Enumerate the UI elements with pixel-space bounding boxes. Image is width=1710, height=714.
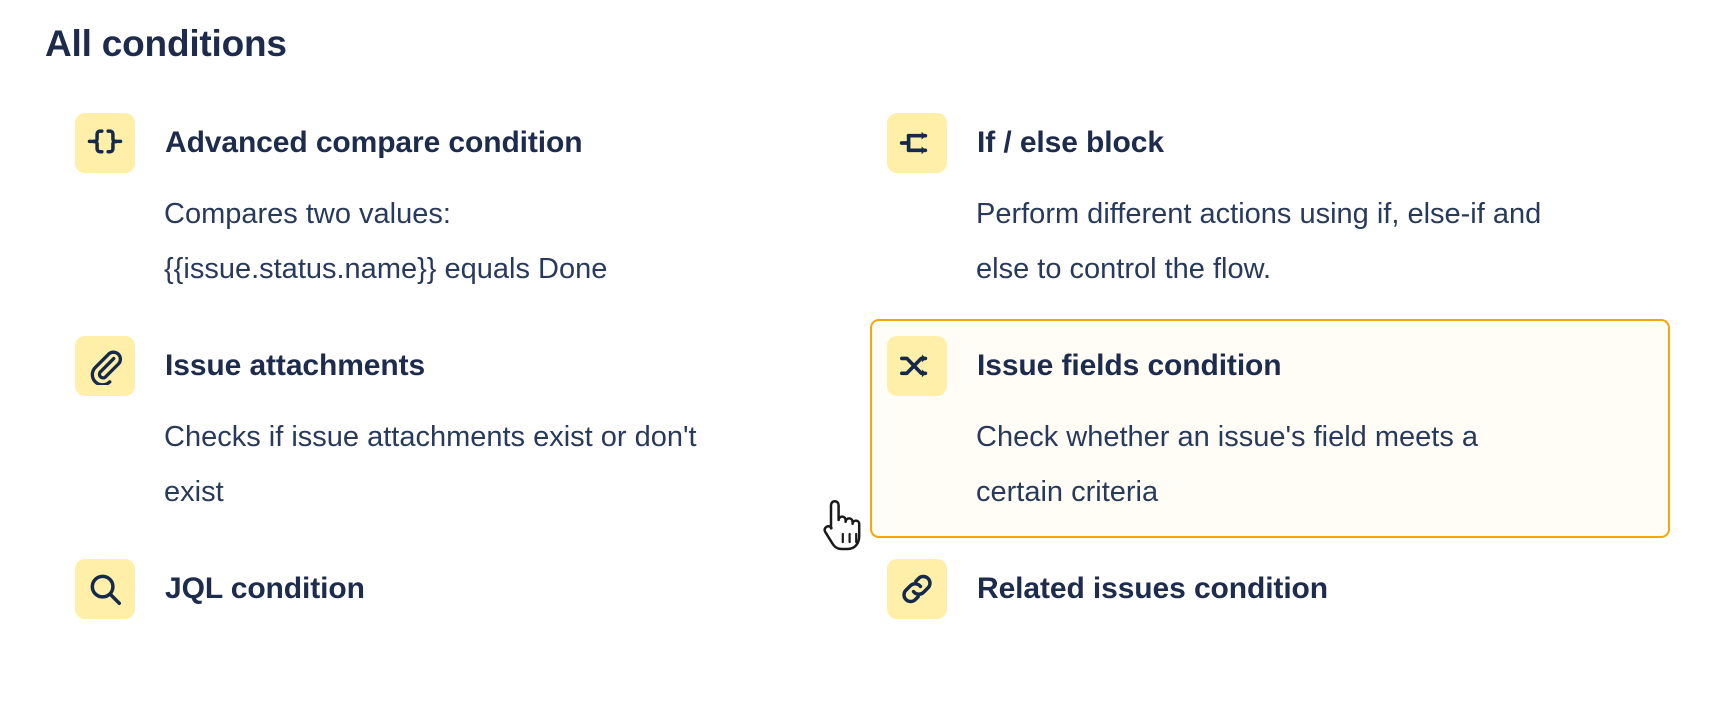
condition-title: Related issues condition <box>977 572 1328 607</box>
condition-description: Checks if issue attachments exist or don… <box>164 410 699 520</box>
link-icon <box>887 559 947 619</box>
condition-card-header: Issue fields condition <box>887 336 1652 396</box>
page-title: All conditions <box>45 22 287 66</box>
condition-card-issue-fields-condition[interactable]: Issue fields condition Check whether an … <box>870 319 1670 538</box>
magnifier-icon <box>75 559 135 619</box>
condition-card-advanced-compare-condition[interactable]: Advanced compare condition Compares two … <box>58 96 858 315</box>
condition-card-header: If / else block <box>887 113 1652 173</box>
condition-card-jql-condition[interactable]: JQL condition <box>58 542 858 651</box>
condition-card-issue-attachments[interactable]: Issue attachments Checks if issue attach… <box>58 319 858 538</box>
condition-title: Issue attachments <box>165 349 425 384</box>
condition-card-related-issues-condition[interactable]: Related issues condition <box>870 542 1670 651</box>
paperclip-icon <box>75 336 135 396</box>
condition-title: Advanced compare condition <box>165 126 582 161</box>
curly-braces-icon <box>75 113 135 173</box>
conditions-column-right: If / else block Perform different action… <box>870 96 1670 655</box>
branch-arrows-icon <box>887 113 947 173</box>
conditions-column-left: Advanced compare condition Compares two … <box>58 96 858 655</box>
condition-title: Issue fields condition <box>977 349 1282 384</box>
condition-card-header: Advanced compare condition <box>75 113 840 173</box>
condition-description: Check whether an issue's field meets a c… <box>976 410 1556 520</box>
condition-title: JQL condition <box>165 572 365 607</box>
condition-card-header: Related issues condition <box>887 559 1652 619</box>
condition-title: If / else block <box>977 126 1164 161</box>
conditions-grid: Advanced compare condition Compares two … <box>0 96 1710 714</box>
condition-description: Perform different actions using if, else… <box>976 187 1556 297</box>
condition-card-header: Issue attachments <box>75 336 840 396</box>
condition-card-header: JQL condition <box>75 559 840 619</box>
shuffle-arrows-icon <box>887 336 947 396</box>
condition-description: Compares two values: {{issue.status.name… <box>164 187 699 297</box>
condition-card-if-else-block[interactable]: If / else block Perform different action… <box>870 96 1670 315</box>
